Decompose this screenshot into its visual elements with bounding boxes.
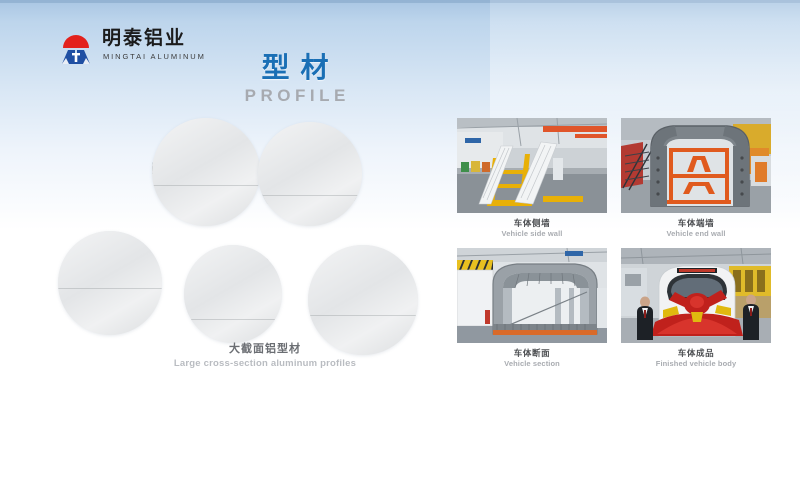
photo-cell-vehicle-side-wall[interactable]: 车体侧墙 Vehicle side wall [457, 118, 607, 239]
photo-cell-vehicle-section[interactable]: 车体断面 Vehicle section [457, 248, 607, 369]
vehicle-end-wall-photo [621, 118, 771, 213]
caption-cn: 车体侧墙 [457, 218, 607, 229]
profile-photo-hollow-box-extrusion [152, 118, 260, 226]
mingtai-logo-mark [56, 28, 96, 68]
finished-vehicle-body-photo [621, 248, 771, 343]
caption-cn: 车体端墙 [621, 218, 771, 229]
finished-vehicle-body-caption: 车体成品 Finished vehicle body [621, 348, 771, 369]
photo-cell-vehicle-end-wall[interactable]: 车体端墙 Vehicle end wall [621, 118, 771, 239]
profile-photo-square-flange-bore-block [184, 245, 282, 343]
page-title-cn: 型材 [205, 52, 385, 84]
caption-cn: 车体成品 [621, 348, 771, 359]
profile-photo-bowtie-hollow-section [308, 245, 418, 355]
vehicle-section-photo [457, 248, 607, 343]
profile-photo-wide-panel-truss-extrusion [258, 122, 362, 226]
caption-en: Vehicle end wall [621, 229, 771, 239]
profiles-caption-cn: 大截面铝型材 [130, 342, 400, 357]
caption-en: Vehicle side wall [457, 229, 607, 239]
slide-canvas: 明泰铝业 MINGTAI ALUMINUM 型材 PROFILE [0, 0, 800, 480]
vehicle-side-wall-caption: 车体侧墙 Vehicle side wall [457, 218, 607, 239]
profiles-caption: 大截面铝型材 Large cross-section aluminum prof… [130, 342, 400, 370]
page-title: 型材 PROFILE [205, 52, 385, 106]
vehicle-side-wall-image [457, 118, 607, 213]
vehicle-section-image [457, 248, 607, 343]
profiles-caption-en: Large cross-section aluminum profiles [130, 357, 400, 370]
top-hairline [0, 0, 800, 3]
caption-en: Vehicle section [457, 359, 607, 369]
vehicle-side-wall-photo [457, 118, 607, 213]
vehicle-section-caption: 车体断面 Vehicle section [457, 348, 607, 369]
logo-name-cn: 明泰铝业 [102, 28, 186, 50]
logo-name-en: MINGTAI ALUMINUM [103, 52, 206, 61]
vehicle-end-wall-image [621, 118, 771, 213]
vehicle-end-wall-caption: 车体端墙 Vehicle end wall [621, 218, 771, 239]
caption-cn: 车体断面 [457, 348, 607, 359]
page-title-en: PROFILE [205, 86, 385, 106]
finished-vehicle-body-image [621, 248, 771, 343]
caption-en: Finished vehicle body [621, 359, 771, 369]
profile-photo-radial-finned-round-extrusion [58, 231, 162, 335]
photo-cell-finished-vehicle-body[interactable]: 车体成品 Finished vehicle body [621, 248, 771, 369]
